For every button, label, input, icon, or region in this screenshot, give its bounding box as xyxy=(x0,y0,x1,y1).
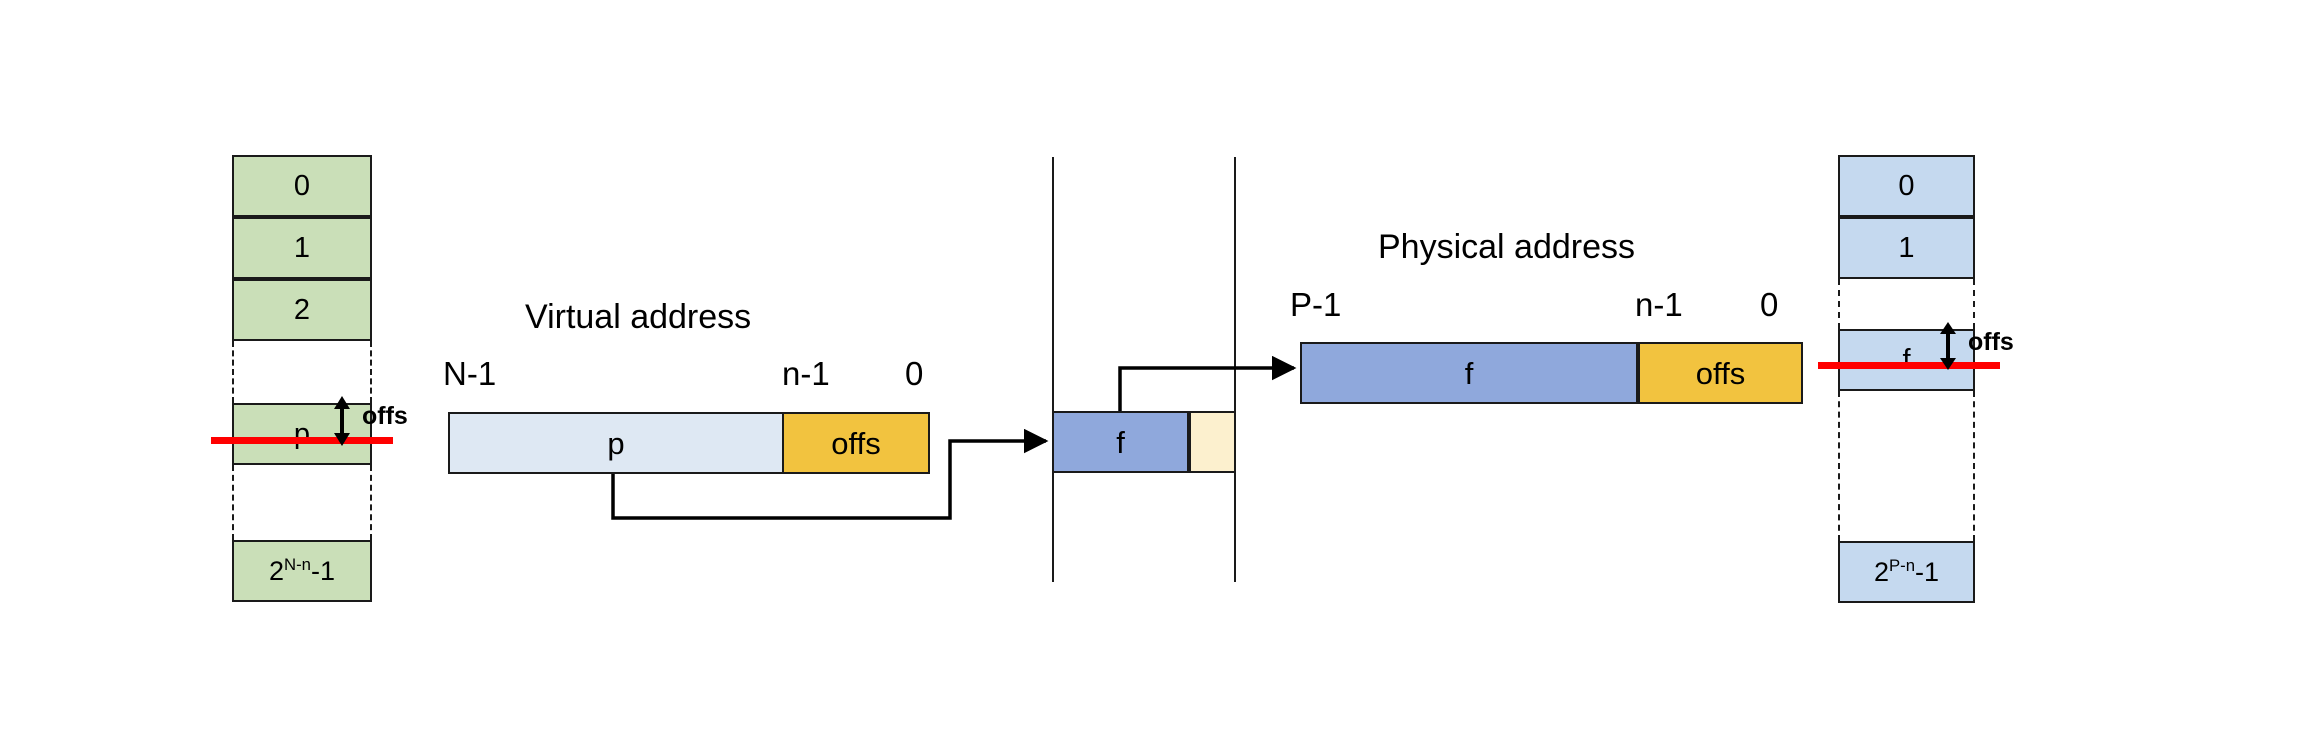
physical-frame-row-f-label: f xyxy=(1902,346,1910,375)
physical-frame-row-last-label: 2P-n-1 xyxy=(1874,558,1939,586)
physical-address-offset-field[interactable]: offs xyxy=(1638,342,1803,404)
virtual-page-row-2[interactable]: 2 xyxy=(232,279,372,341)
virtual-column-rail-right-lower xyxy=(370,465,372,540)
physical-frame-row-1-label: 1 xyxy=(1898,234,1914,263)
physical-offset-label: offs xyxy=(1968,330,2014,355)
physical-address-frame-field[interactable]: f xyxy=(1300,342,1638,404)
wire-page-table-to-physical-address xyxy=(1120,368,1294,411)
virtual-page-row-last-exponent: N-n xyxy=(284,555,311,574)
page-table-rail-right xyxy=(1234,157,1236,582)
virtual-page-row-1[interactable]: 1 xyxy=(232,217,372,279)
virtual-address-page-field[interactable]: p xyxy=(448,412,784,474)
virtual-address-offset-field[interactable]: offs xyxy=(782,412,930,474)
virtual-column-rail-left xyxy=(232,341,234,403)
virtual-offset-highlight-rule xyxy=(211,437,393,444)
virtual-msb-label: N-1 xyxy=(443,357,496,390)
physical-column-rail-right-lower xyxy=(1973,391,1975,541)
virtual-lsb-label: 0 xyxy=(905,357,923,390)
physical-frame-row-last-exponent: P-n xyxy=(1889,556,1915,575)
physical-lsb-label: 0 xyxy=(1760,288,1778,321)
physical-split-bit-label: n-1 xyxy=(1635,288,1683,321)
physical-address-title: Physical address xyxy=(1378,230,1635,264)
physical-msb-label: P-1 xyxy=(1290,288,1341,321)
physical-address-offset-field-label: offs xyxy=(1696,358,1745,389)
physical-frame-row-0-label: 0 xyxy=(1898,172,1914,201)
virtual-column-rail-left-lower xyxy=(232,465,234,540)
physical-frame-row-0[interactable]: 0 xyxy=(1838,155,1975,217)
page-table-entry-frame-label: f xyxy=(1116,427,1125,458)
virtual-column-rail-right xyxy=(370,341,372,403)
virtual-page-row-2-label: 2 xyxy=(294,296,310,325)
virtual-address-title: Virtual address xyxy=(525,300,751,334)
page-table-rail-left xyxy=(1052,157,1054,582)
virtual-split-bit-label: n-1 xyxy=(782,357,830,390)
virtual-page-row-0[interactable]: 0 xyxy=(232,155,372,217)
physical-column-rail-left-lower xyxy=(1838,391,1840,541)
virtual-page-row-last[interactable]: 2N-n-1 xyxy=(232,540,372,602)
page-table-entry-flags[interactable] xyxy=(1189,411,1236,473)
page-table-entry-frame[interactable]: f xyxy=(1052,411,1189,473)
virtual-offset-arrow-icon xyxy=(326,396,358,446)
physical-column-rail-right xyxy=(1973,279,1975,329)
physical-frame-row-last[interactable]: 2P-n-1 xyxy=(1838,541,1975,603)
physical-offset-highlight-rule xyxy=(1818,362,2000,369)
virtual-offset-label: offs xyxy=(362,404,408,429)
virtual-page-row-p-label: p xyxy=(294,420,310,449)
paging-address-translation-diagram: 0 1 2 p 2N-n-1 offs Virtual address N-1 xyxy=(0,0,2302,754)
virtual-address-page-field-label: p xyxy=(607,428,624,459)
physical-offset-arrow-icon xyxy=(1932,322,1964,370)
physical-frame-row-1[interactable]: 1 xyxy=(1838,217,1975,279)
virtual-address-offset-field-label: offs xyxy=(831,428,880,459)
physical-address-frame-field-label: f xyxy=(1465,358,1474,389)
virtual-page-row-1-label: 1 xyxy=(294,234,310,263)
virtual-page-row-last-label: 2N-n-1 xyxy=(269,557,335,585)
physical-column-rail-left xyxy=(1838,279,1840,329)
virtual-page-row-0-label: 0 xyxy=(294,172,310,201)
